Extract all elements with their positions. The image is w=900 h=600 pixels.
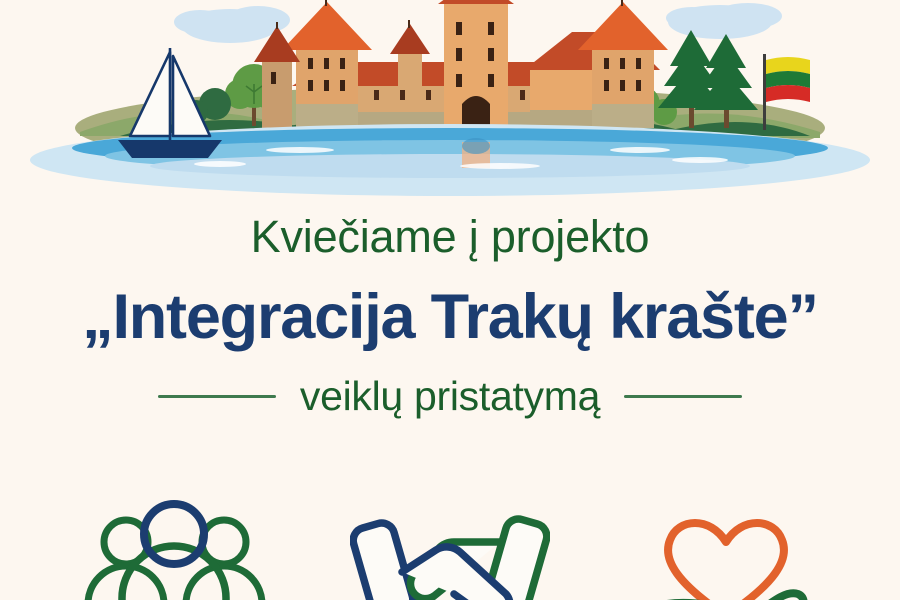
hero-illustration	[0, 0, 900, 196]
subtitle-line: veiklų pristatymą	[300, 376, 600, 417]
divider-rule-left	[158, 395, 276, 398]
subtitle-row: veiklų pristatymą	[0, 349, 900, 417]
invite-line: Kviečiame į projekto	[0, 196, 900, 259]
poster-canvas: Kviečiame į projekto „Integracija Trakų …	[0, 0, 900, 600]
page-title: „Integracija Trakų krašte”	[0, 259, 900, 349]
heart-in-hand-icon	[626, 498, 826, 600]
divider-rule-right	[624, 395, 742, 398]
icon-row	[0, 498, 900, 600]
group-of-people-icon	[74, 498, 274, 600]
handshake-icon	[350, 498, 550, 600]
poster-text-block: Kviečiame į projekto „Integracija Trakų …	[0, 196, 900, 417]
